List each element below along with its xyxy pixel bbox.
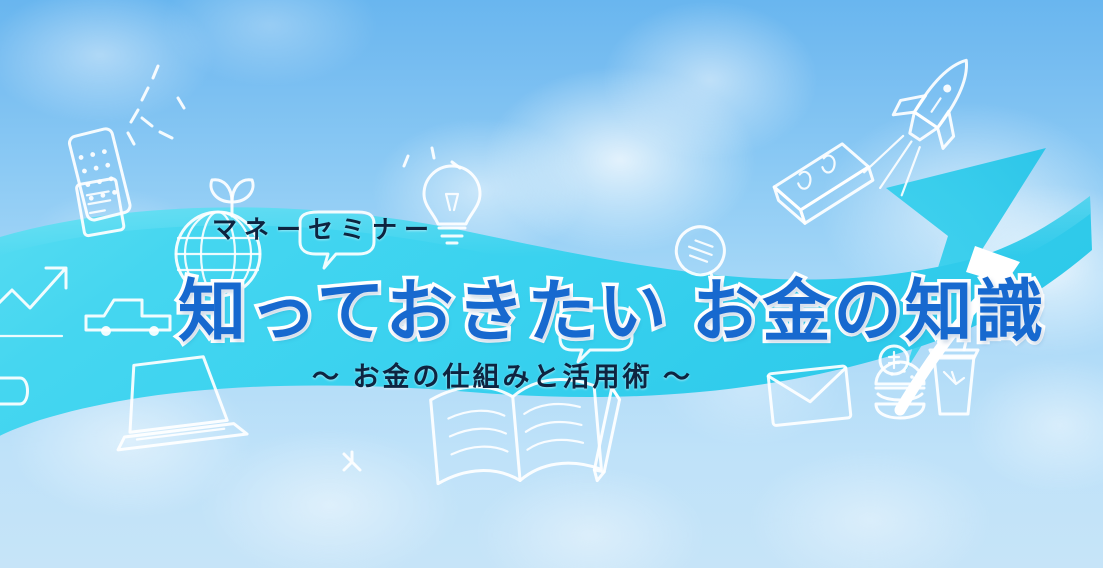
dashed-trail-icon (128, 66, 184, 144)
tablet-icon (76, 178, 124, 236)
banknote-stack-icon (768, 138, 879, 229)
sparkle-icon (344, 452, 360, 470)
laptop-icon (108, 353, 247, 450)
open-book-icon (430, 376, 602, 487)
drink-cup-icon (930, 316, 978, 414)
burger-icon (876, 362, 924, 418)
globe-grid-icon (176, 212, 260, 296)
magnifier-icon (665, 220, 740, 296)
envelope-icon (768, 366, 851, 426)
speech-bubble-icon (300, 212, 374, 268)
speech-bubble-icon (560, 308, 632, 362)
money-seminar-banner: マネーセミナー 知っておきたい お金の知識 〜 お金の仕組みと活用術 〜 (0, 0, 1103, 568)
speech-bubble-icon (0, 378, 28, 414)
lightbulb-icon (424, 166, 480, 243)
doodle-layer (0, 0, 1103, 568)
growth-chart-arrow-icon (0, 268, 66, 336)
rocket-icon (854, 42, 993, 205)
car-icon (86, 300, 170, 336)
